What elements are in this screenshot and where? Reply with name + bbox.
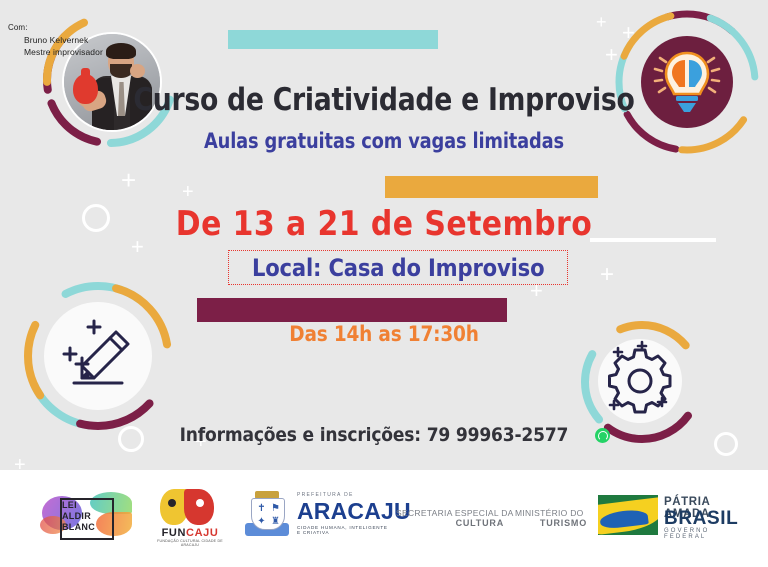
location-box: Local: Casa do Improviso: [228, 250, 568, 285]
aracaju-slogan: CIDADE HUMANA, INTELIGENTE E CRIATIVA: [297, 525, 390, 535]
turismo-line2: TURISMO: [515, 518, 587, 528]
decorative-bar-teal: [228, 30, 438, 49]
brasil-line2: BRASIL: [664, 508, 738, 530]
funcaju-logo: FUNCAJU FUNDAÇÃO CULTURAL CIDADE DE ARAC…: [148, 487, 232, 545]
lei-aldir-blanc-logo: LEI ALDIR BLANC: [38, 490, 134, 542]
event-date-text: De 13 a 21 de Setembro: [46, 204, 722, 244]
decorative-plus-icon: +: [600, 263, 614, 287]
pencil-icon: [44, 302, 152, 410]
prefeitura-aracaju-logo: ✝ ⚑ ✦ ♜ PREFEITURA DE ARACAJU CIDADE HUM…: [245, 490, 390, 542]
ministerio-turismo-logo: MINISTÉRIO DO TURISMO: [515, 508, 595, 528]
presenter-label: Com:: [8, 23, 28, 32]
decorative-bar-maroon: [197, 298, 507, 322]
page-subtitle: Aulas gratuitas com vagas limitadas: [58, 129, 711, 153]
funcaju-text-b: CAJU: [186, 527, 218, 539]
aldir-line3: BLANC: [62, 522, 110, 533]
location-text: Local: Casa do Improviso: [252, 254, 544, 282]
funcaju-text-a: FUN: [162, 527, 186, 539]
whatsapp-icon[interactable]: [595, 428, 610, 443]
decorative-plus-icon: +: [596, 13, 607, 31]
decorative-bar-gold: [385, 176, 598, 198]
contact-line: Informações e inscrições: 79 99963-2577: [0, 424, 768, 446]
presenter-role: Mestre improvisador: [8, 46, 103, 58]
brasil-line3: GOVERNO FEDERAL: [664, 528, 746, 540]
presenter-name: Bruno Kelvernek: [8, 34, 103, 46]
aldir-line1: LEI: [62, 500, 110, 511]
presenter-credit: Com: Bruno Kelvernek Mestre improvisador: [8, 22, 103, 58]
cultura-line2: CULTURA: [396, 518, 504, 528]
governo-federal-brasil-logo: PÁTRIA AMADA BRASIL GOVERNO FEDERAL: [598, 492, 746, 540]
brazil-flag-icon: [598, 495, 658, 535]
poster-canvas: + + + + + + + + + + C: [0, 0, 768, 567]
decorative-plus-icon: +: [182, 182, 194, 202]
funcaju-subtitle: FUNDAÇÃO CULTURAL CIDADE DE ARACAJU: [148, 539, 232, 547]
aldir-line2: ALDIR: [62, 511, 110, 522]
turismo-line1: MINISTÉRIO DO: [515, 508, 595, 518]
page-title: Curso de Criatividade e Improviso: [54, 82, 714, 118]
aracaju-title: ARACAJU: [297, 499, 411, 523]
cultura-line1: SECRETARIA ESPECIAL DA: [396, 508, 516, 518]
contact-text: Informações e inscrições: 79 99963-2577: [180, 424, 569, 446]
secretaria-cultura-logo: SECRETARIA ESPECIAL DA CULTURA: [396, 508, 516, 528]
gear-icon: [598, 339, 682, 423]
decorative-plus-icon: +: [121, 167, 136, 193]
